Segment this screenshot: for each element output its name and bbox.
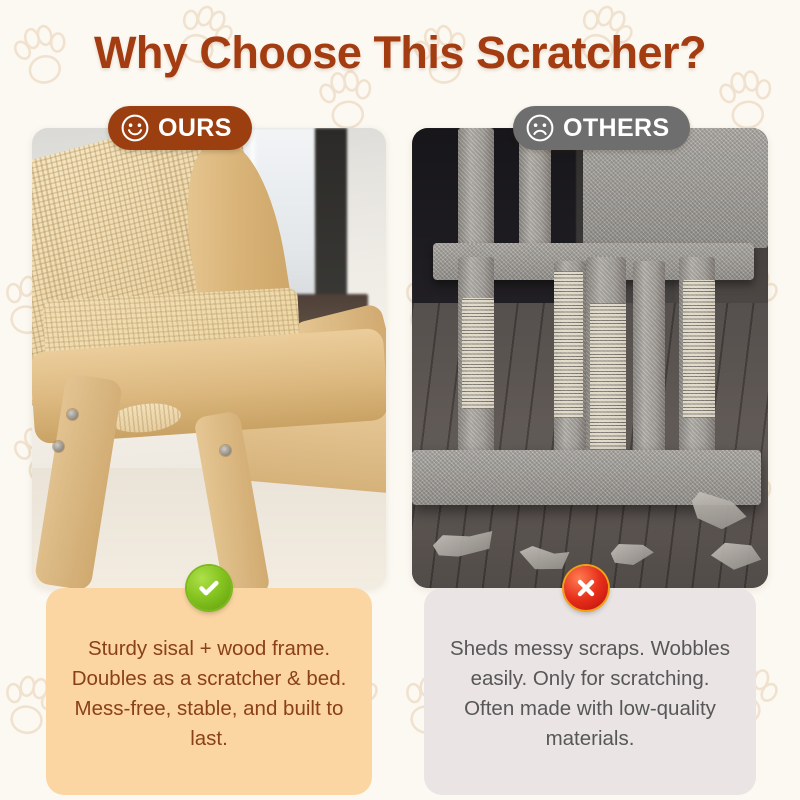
column-ours	[32, 128, 386, 588]
product-photo-ours	[32, 128, 386, 588]
photo-detail-screw	[220, 445, 231, 456]
result-text-ours: Sturdy sisal + wood frame. Doubles as a …	[68, 634, 350, 754]
result-text-others: Sheds messy scraps. Wobbles easily. Only…	[446, 634, 734, 754]
result-card-others: Sheds messy scraps. Wobbles easily. Only…	[424, 588, 756, 795]
badge-others[interactable]: OTHERS	[513, 106, 690, 150]
photo-detail-post	[458, 128, 494, 252]
photo-detail-screw	[53, 441, 64, 452]
product-photo-others	[412, 128, 768, 588]
sad-face-icon	[525, 113, 555, 143]
x-circle-icon	[564, 566, 608, 610]
photo-detail-sisal-wrap	[590, 303, 626, 450]
photo-detail-pillar	[315, 128, 347, 312]
photo-detail-sisal-wrap	[683, 280, 715, 418]
check-circle-icon	[187, 566, 231, 610]
photo-detail-screw	[67, 409, 78, 420]
badge-others-label: OTHERS	[563, 116, 670, 141]
page-title: Why Choose This Scratcher?	[0, 26, 800, 80]
photo-detail-post	[519, 137, 551, 252]
column-others	[412, 128, 768, 588]
badge-ours-label: OURS	[158, 116, 232, 141]
photo-detail-post	[633, 261, 665, 477]
photo-detail-sisal-wrap	[462, 298, 494, 408]
photo-detail-sisal-wrap	[554, 271, 582, 418]
badge-ours[interactable]: OURS	[108, 106, 252, 150]
smiley-face-icon	[120, 113, 150, 143]
result-card-ours: Sturdy sisal + wood frame. Doubles as a …	[46, 588, 372, 795]
comparison-infographic: Why Choose This Scratcher?	[0, 0, 800, 800]
